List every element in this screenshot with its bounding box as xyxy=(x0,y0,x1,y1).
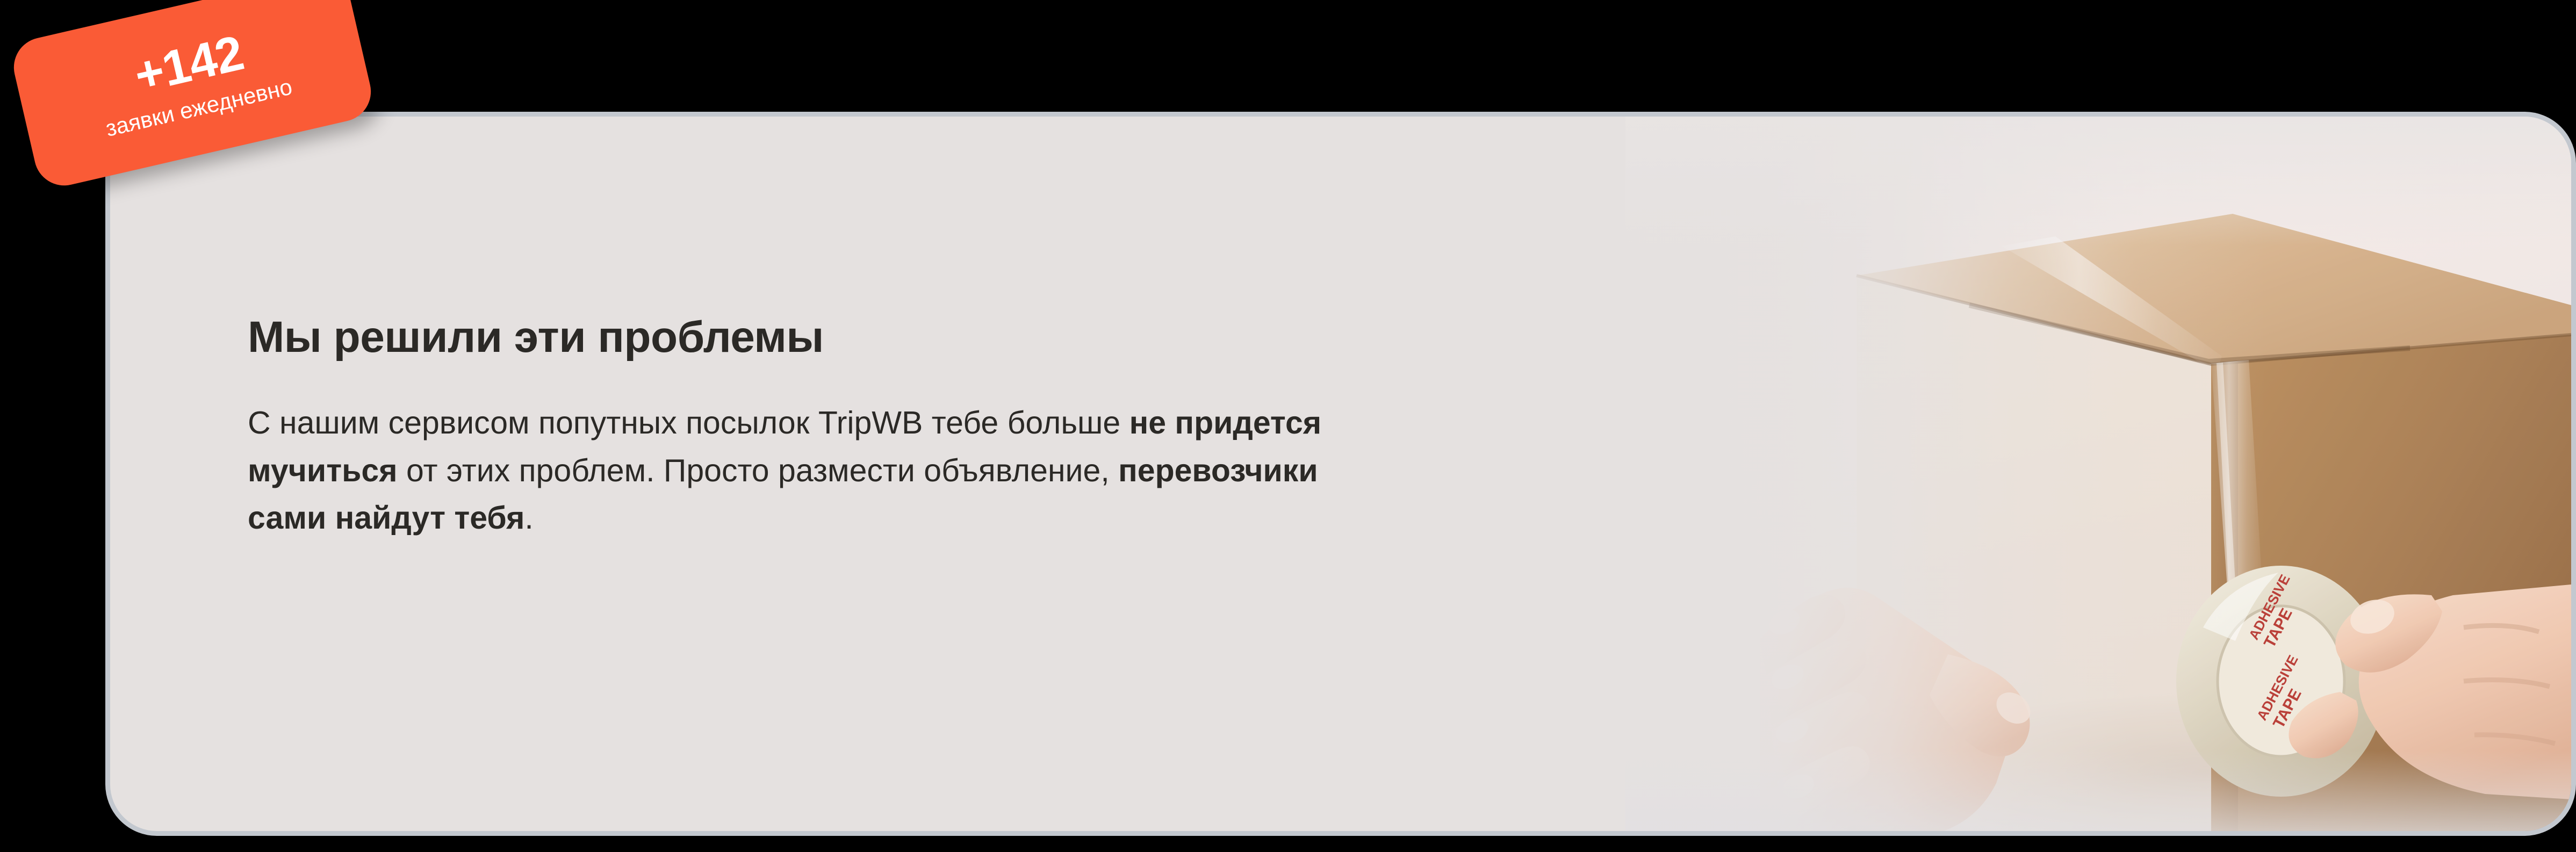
card-text-column: Мы решили эти проблемы С нашим сервисом … xyxy=(248,314,1591,542)
packing-box-photo: ADHESIVE TAPE ADHESIVE TAPE xyxy=(1625,117,2571,831)
feature-card: ADHESIVE TAPE ADHESIVE TAPE xyxy=(105,112,2576,836)
card-heading: Мы решили эти проблемы xyxy=(248,314,1591,360)
body-run-0: С нашим сервисом попутных посылок TripWB… xyxy=(248,405,1129,441)
card-body-text: С нашим сервисом попутных посылок TripWB… xyxy=(248,399,1387,542)
body-run-2: от этих проблем. Просто размести объявле… xyxy=(398,453,1119,488)
body-run-4: . xyxy=(524,500,533,536)
card-photo-region: ADHESIVE TAPE ADHESIVE TAPE xyxy=(1625,117,2571,831)
page-stage: ADHESIVE TAPE ADHESIVE TAPE xyxy=(0,0,2576,852)
